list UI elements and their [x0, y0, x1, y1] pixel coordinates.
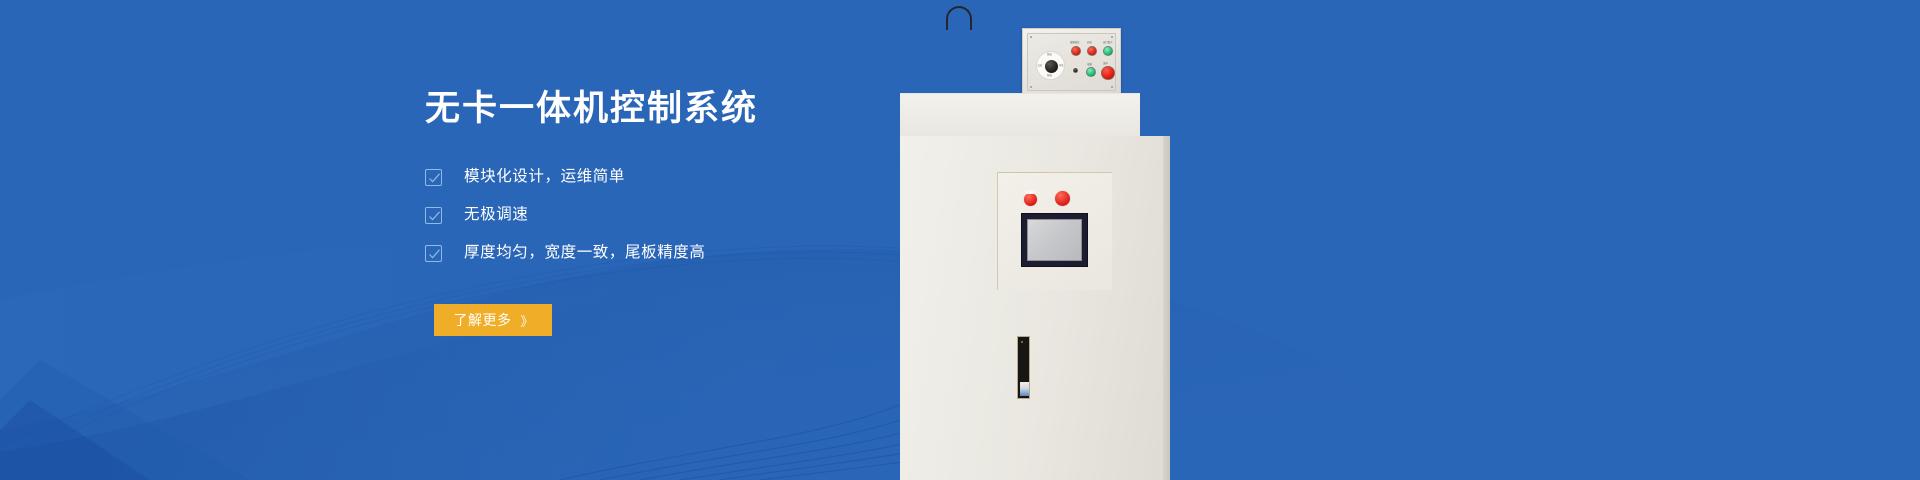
indicator-lamp-right	[1055, 191, 1070, 206]
indicator-lamp-left	[1024, 193, 1037, 206]
button-label-alarm-reset: 故障复位	[1070, 42, 1080, 44]
hero-banner: 无卡一体机控制系统 模块化设计，运维简单 无极调速	[0, 0, 1920, 480]
rotary-knob-icon[interactable]: 快进 工进 停止 快退	[1036, 51, 1065, 80]
card-slot-label	[1020, 382, 1029, 396]
checkbox-check-icon	[425, 245, 442, 262]
knob-label-down: 快退	[1047, 75, 1052, 77]
hmi-screen[interactable]	[1027, 219, 1082, 261]
panel-screw	[1111, 86, 1113, 88]
knob-label-left: 工进	[1037, 65, 1042, 67]
feature-label-2: 无极调速	[464, 204, 528, 226]
button-label-start: 启动	[1087, 42, 1092, 44]
feature-item-2: 无极调速	[425, 204, 945, 226]
start-button[interactable]	[1087, 46, 1097, 56]
learn-more-label: 了解更多	[453, 310, 511, 330]
feature-label-1: 模块化设计，运维简单	[464, 166, 625, 188]
feature-label-3: 厚度均匀，宽度一致，尾板精度高	[464, 242, 706, 264]
chevron-right-icon: 》	[520, 311, 532, 330]
indicator-cap	[1025, 190, 1036, 194]
hero-content: 无卡一体机控制系统 模块化设计，运维简单 无极调速	[425, 88, 945, 336]
card-slot	[1017, 336, 1030, 399]
checkbox-check-icon	[425, 207, 442, 224]
control-panel-face: 快进 工进 停止 快退 故障复位 启动 运行指示 电源 急停	[1027, 33, 1116, 91]
emergency-stop[interactable]	[1101, 66, 1115, 80]
panel-cable	[946, 6, 972, 30]
knob-label-up: 快进	[1047, 54, 1052, 56]
alarm-reset-button[interactable]	[1071, 46, 1081, 56]
learn-more-button[interactable]: 了解更多 》	[434, 304, 552, 336]
checkbox-check-icon	[425, 169, 442, 186]
machine-photo: 快进 工进 停止 快退 故障复位 启动 运行指示 电源 急停	[900, 0, 1200, 480]
page-title: 无卡一体机控制系统	[425, 88, 945, 130]
reset-micro-button[interactable]	[1073, 68, 1078, 73]
panel-screw	[1030, 86, 1032, 88]
hmi-touchscreen[interactable]	[1021, 213, 1088, 267]
panel-screw	[1111, 36, 1113, 38]
feature-item-1: 模块化设计，运维简单	[425, 166, 945, 188]
panel-screw	[1030, 36, 1032, 38]
run-indicator[interactable]	[1103, 46, 1113, 56]
cabinet-faceplate	[997, 172, 1112, 290]
knob-handle[interactable]	[1045, 60, 1058, 73]
slot-dot	[1021, 341, 1023, 343]
control-panel-box: 快进 工进 停止 快退 故障复位 启动 运行指示 电源 急停	[1022, 28, 1121, 96]
cabinet-right-edge	[1163, 136, 1170, 480]
feature-item-3: 厚度均匀，宽度一致，尾板精度高	[425, 242, 945, 264]
knob-label-right: 停止	[1059, 65, 1064, 67]
button-label-run-indicator: 运行指示	[1103, 42, 1113, 44]
feature-list: 模块化设计，运维简单 无极调速 厚度均匀，宽度一致，尾板精度高	[425, 166, 945, 264]
power-on-button[interactable]	[1086, 67, 1096, 77]
